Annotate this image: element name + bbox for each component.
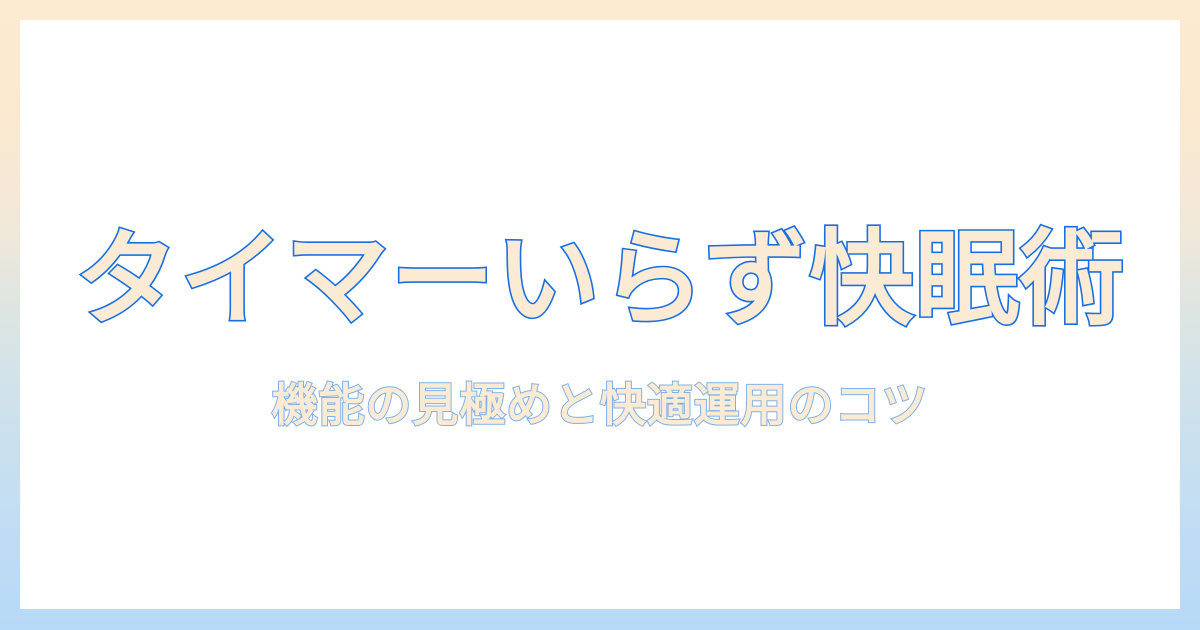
subtitle-block: 機能の見極めと快適運用のコツ bbox=[20, 378, 1180, 433]
white-content-panel: タイマーいらず快眠術 機能の見極めと快適運用のコツ bbox=[20, 20, 1180, 609]
title-card: タイマーいらず快眠術 機能の見極めと快適運用のコツ bbox=[0, 0, 1200, 630]
title-block: タイマーいらず快眠術 bbox=[20, 222, 1180, 338]
content-stack: タイマーいらず快眠術 機能の見極めと快適運用のコツ bbox=[20, 20, 1180, 609]
page-title: タイマーいらず快眠術 bbox=[75, 222, 1125, 338]
page-subtitle: 機能の見極めと快適運用のコツ bbox=[272, 378, 929, 433]
